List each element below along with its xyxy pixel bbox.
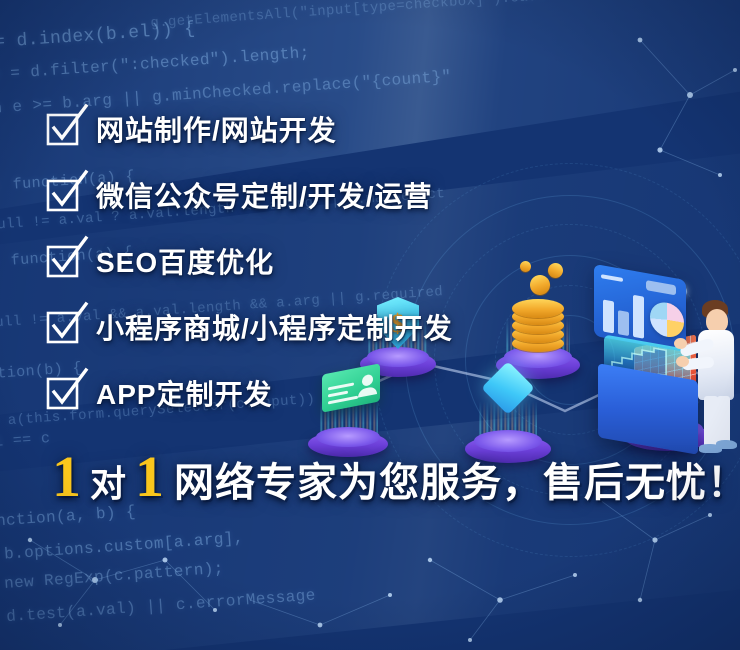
code-line: = d.index(b.el)) { [0,19,196,53]
service-item-seo[interactable]: SEO百度优化 [48,228,688,294]
service-label: SEO百度优化 [96,241,274,281]
code-line: = b.options.custom[a.arg], [0,529,244,565]
headline-number-second: 1 [131,448,168,506]
checkbox-checked-icon [48,246,78,276]
code-line: n d.test(a.val) || c.errorMessage [0,587,316,628]
code-line: 1 == c [0,430,51,451]
service-label: 网站制作/网站开发 [96,109,337,149]
checkbox-checked-icon [48,114,78,144]
service-item-app[interactable]: APP定制开发 [48,360,688,426]
checkbox-checked-icon [48,378,78,408]
service-label: APP定制开发 [96,373,273,413]
headline-slogan: 1 对 1 网络专家为您服务，售后无忧！ [48,448,740,506]
service-list: 网站制作/网站开发 微信公众号定制/开发/运营 SEO百度优化 [48,96,688,426]
service-label: 小程序商城/小程序定制开发 [96,307,453,347]
headline-number-first: 1 [48,448,85,506]
checkbox-checked-icon [48,180,78,210]
service-item-website[interactable]: 网站制作/网站开发 [48,96,688,162]
code-line: g.getElementsAll("input[type=checkbox]")… [150,0,546,32]
person-lab-coat-icon [686,300,740,450]
checkbox-checked-icon [48,312,78,342]
service-label: 微信公众号定制/开发/运营 [96,175,433,215]
headline-rest-text: 网络专家为您服务，售后无忧！ [168,463,740,503]
code-line: = new RegExp(c.pattern); [0,560,224,595]
service-item-wechat[interactable]: 微信公众号定制/开发/运营 [48,162,688,228]
code-line: e = d.filter(":checked").length; [0,44,310,84]
headline-mid-word: 对 [85,466,131,502]
service-item-miniprogram[interactable]: 小程序商城/小程序定制开发 [48,294,688,360]
promo-banner: g.getElementsAll("input[type=checkbox]")… [0,0,740,650]
